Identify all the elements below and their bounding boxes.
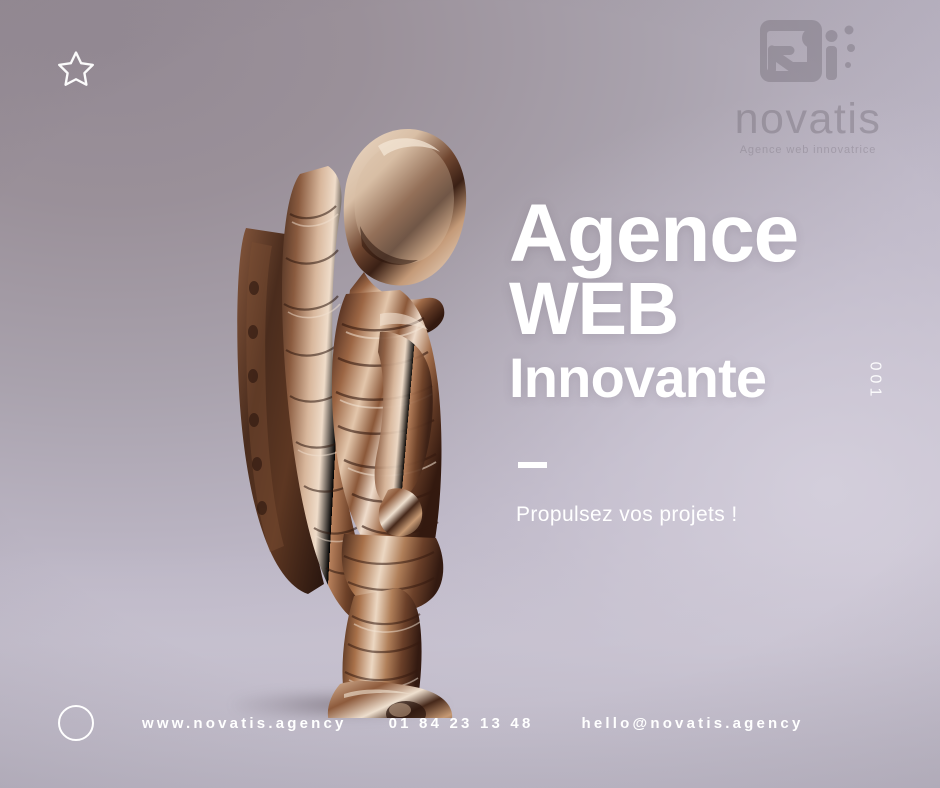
logo-wordmark: novatis	[735, 98, 882, 141]
headline-line-1: Agence	[509, 196, 909, 271]
footer-website[interactable]: www.novatis.agency	[142, 715, 347, 732]
circle-outline-icon	[58, 705, 94, 741]
contact-footer: www.novatis.agency 01 84 23 13 48 hello@…	[0, 702, 940, 744]
headline-line-2: WEB	[509, 275, 909, 343]
novatis-logo[interactable]: novatis Agence web innovatrice	[712, 18, 904, 156]
novatis-running-figure-icon	[756, 18, 860, 96]
logo-tagline: Agence web innovatrice	[740, 144, 877, 156]
slide-index-number: 001	[866, 362, 884, 401]
poster-canvas: novatis Agence web innovatrice Agence WE…	[0, 0, 940, 788]
headline-divider-dash	[518, 462, 547, 468]
headline-block: Agence WEB Innovante	[509, 196, 909, 403]
headline-line-3: Innovante	[509, 352, 909, 404]
footer-phone[interactable]: 01 84 23 13 48	[389, 715, 534, 732]
footer-email[interactable]: hello@novatis.agency	[582, 715, 804, 732]
subtitle-text: Propulsez vos projets !	[516, 503, 738, 527]
